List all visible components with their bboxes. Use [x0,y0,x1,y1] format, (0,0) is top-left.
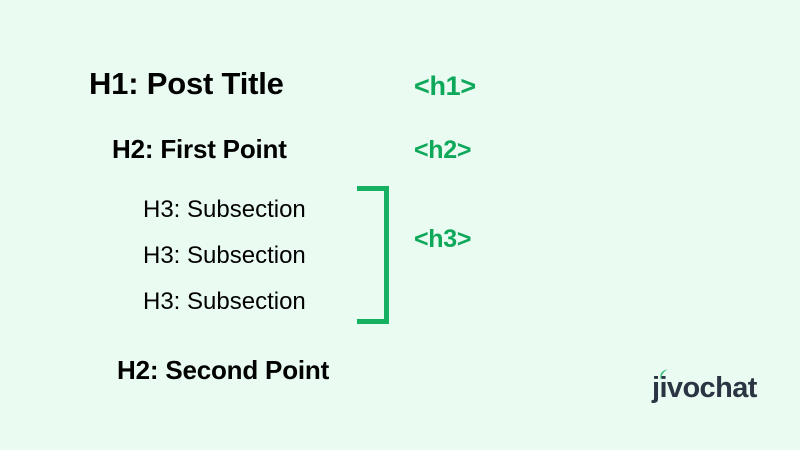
heading-h2-first-label: H2: First Point [112,134,287,165]
heading-h2-second-label: H2: Second Point [117,355,329,386]
heading-h3-label-2: H3: Subsection [143,241,306,270]
infographic-canvas: H1: Post Title <h1> H2: First Point <h2>… [0,0,800,450]
heading-h3-label-3: H3: Subsection [143,287,306,316]
heading-h3-label-1: H3: Subsection [143,195,306,224]
tag-label-h1: <h1> [414,70,476,102]
jivochat-logo: jivochat [652,368,752,406]
tag-label-h3: <h3> [414,224,471,254]
h3-group-bracket [357,186,389,324]
logo-wordmark: jivochat [652,372,757,404]
heading-h1-label: H1: Post Title [89,66,284,102]
tag-label-h2: <h2> [414,135,471,165]
